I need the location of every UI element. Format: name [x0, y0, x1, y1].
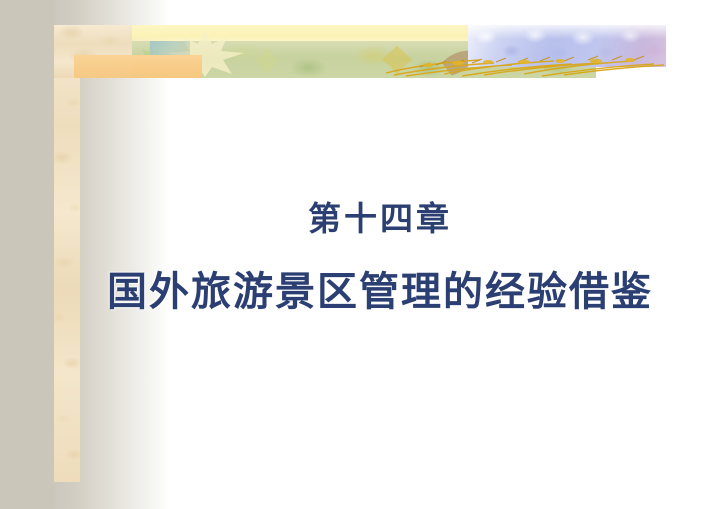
banner-orange-rectangle-front	[74, 55, 202, 78]
top-decorative-banner	[54, 25, 666, 78]
banner-golden-wheat	[384, 53, 666, 77]
slide-title-block: 第十四章 国外旅游景区管理的经验借鉴	[0, 198, 720, 318]
chapter-subtitle: 国外旅游景区管理的经验借鉴	[40, 266, 720, 318]
chapter-number-title: 第十四章	[40, 198, 720, 242]
presentation-slide: 第十四章 国外旅游景区管理的经验借鉴	[0, 0, 720, 509]
banner-blue-highlight-veil	[468, 25, 666, 39]
fern-leaf-icon	[252, 47, 282, 75]
